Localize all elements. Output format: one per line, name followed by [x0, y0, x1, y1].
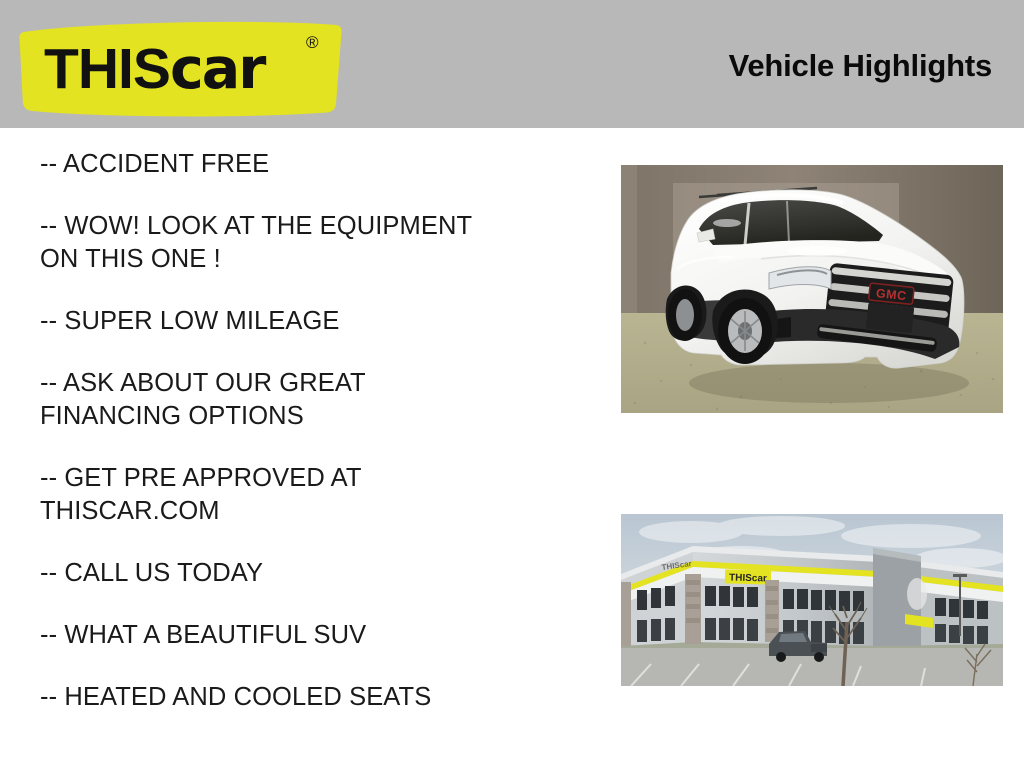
list-item: -- ACCIDENT FREE: [40, 148, 580, 181]
vehicle-highlights-list: -- ACCIDENT FREE -- WOW! LOOK AT THE EQU…: [40, 148, 580, 714]
thiscar-logo: THIS car ®: [18, 16, 342, 120]
gmc-badge: GMC: [869, 283, 915, 305]
list-item: -- WHAT A BEAUTIFUL SUV: [40, 619, 580, 652]
list-item: -- WOW! LOOK AT THE EQUIPMENT ON THIS ON…: [40, 210, 580, 276]
dealership-photo: THIScar THIScar: [621, 514, 1003, 686]
building-sign-text: THIScar: [729, 573, 767, 585]
list-item: -- ASK ABOUT OUR GREAT FINANCING OPTIONS: [40, 367, 580, 433]
list-item: -- GET PRE APPROVED AT THISCAR.COM: [40, 462, 580, 528]
vehicle-photo: GMC: [621, 165, 1003, 413]
logo-text-car: car: [170, 36, 266, 102]
page-header: THIS car ® Vehicle Highlights: [0, 0, 1024, 128]
list-item: -- CALL US TODAY: [40, 557, 580, 590]
logo-text-this: THIS: [44, 37, 170, 101]
building-sign-primary: THIScar: [725, 569, 771, 584]
registered-trademark-icon: ®: [306, 33, 319, 52]
list-item: -- HEATED AND COOLED SEATS: [40, 681, 580, 714]
license-plate-mount: [866, 303, 914, 334]
list-item: -- SUPER LOW MILEAGE: [40, 305, 580, 338]
page-title: Vehicle Highlights: [729, 48, 992, 84]
rear-wheel: [666, 285, 707, 341]
